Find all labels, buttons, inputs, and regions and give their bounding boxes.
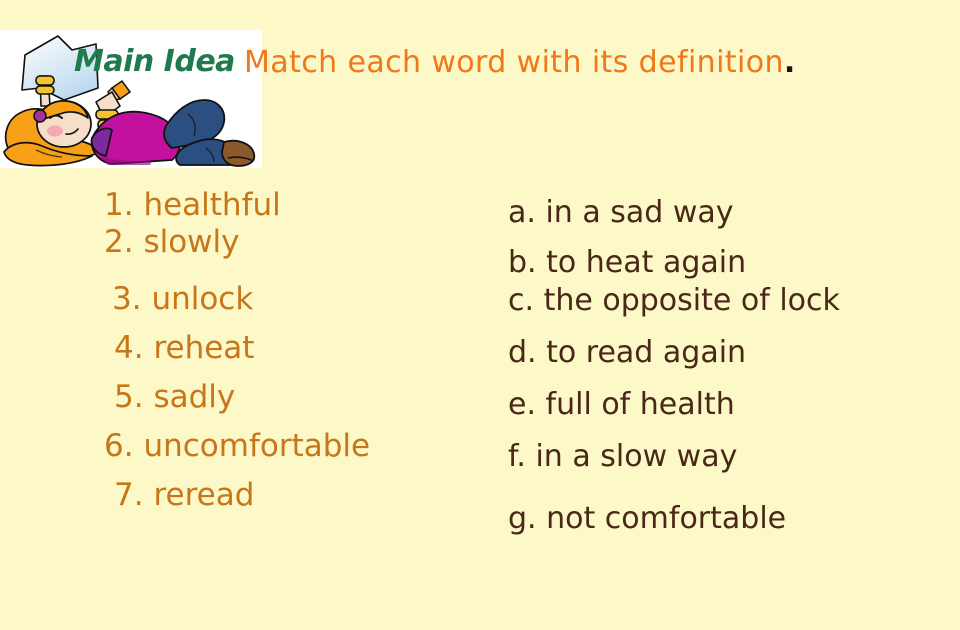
definition-item-marker: e.: [508, 387, 536, 422]
definition-item-label: not comfortable: [546, 501, 786, 536]
word-item-label: unlock: [151, 281, 253, 317]
main-idea-logo-text: Main Idea: [74, 44, 235, 79]
definition-item-marker: f.: [508, 439, 526, 474]
word-item-label: sadly: [153, 379, 235, 415]
page-title-text: Match each word with its definition: [244, 45, 784, 80]
definition-item: b. to heat again: [508, 248, 960, 278]
definition-item-label: to heat again: [546, 245, 746, 280]
definition-item: f. in a slow way: [508, 442, 960, 472]
definition-item: e. full of health: [508, 390, 960, 420]
definition-item-label: in a sad way: [545, 195, 733, 230]
word-item-label: reheat: [153, 330, 254, 366]
worksheet-page: Main Idea Match each word with its defin…: [0, 0, 960, 630]
definition-item: d. to read again: [508, 338, 960, 368]
page-title-period: .: [784, 45, 796, 80]
word-item: 1. healthful: [104, 190, 504, 221]
word-item-label: uncomfortable: [143, 428, 370, 464]
definition-item-marker: d.: [508, 335, 537, 370]
definition-item-marker: b.: [508, 245, 537, 280]
page-title: Match each word with its definition.: [244, 45, 796, 80]
definition-item-marker: g.: [508, 501, 537, 536]
word-item-marker: 4.: [114, 330, 144, 366]
word-item: 7. reread: [104, 480, 504, 511]
definition-item-marker: a.: [508, 195, 536, 230]
word-item-label: healthful: [143, 187, 280, 223]
word-item: 5. sadly: [104, 382, 504, 413]
definition-item: a. in a sad way: [508, 198, 960, 228]
word-item-marker: 3.: [112, 281, 142, 317]
definition-item: g. not comfortable: [508, 504, 960, 534]
definition-item-label: to read again: [546, 335, 746, 370]
word-item-marker: 6.: [104, 428, 134, 464]
main-idea-logo-box: Main Idea: [0, 30, 262, 168]
word-item-marker: 7.: [114, 477, 144, 513]
word-item: 6. uncomfortable: [104, 431, 504, 462]
word-item: 2. slowly: [104, 227, 504, 258]
word-item-label: reread: [153, 477, 254, 513]
definition-item-label: the opposite of lock: [544, 283, 840, 318]
word-list: 1. healthful2. slowly3. unlock4. reheat5…: [104, 190, 504, 511]
word-item-marker: 2.: [104, 224, 134, 260]
definition-item-label: full of health: [546, 387, 735, 422]
definition-item-marker: c.: [508, 283, 534, 318]
definition-item-label: in a slow way: [535, 439, 737, 474]
definition-list: a. in a sad wayb. to heat againc. the op…: [508, 198, 960, 534]
definition-item: c. the opposite of lock: [508, 286, 960, 316]
word-item: 4. reheat: [104, 333, 504, 364]
word-item-marker: 1.: [104, 187, 134, 223]
word-item: 3. unlock: [104, 284, 504, 315]
word-item-label: slowly: [143, 224, 239, 260]
word-item-marker: 5.: [114, 379, 144, 415]
